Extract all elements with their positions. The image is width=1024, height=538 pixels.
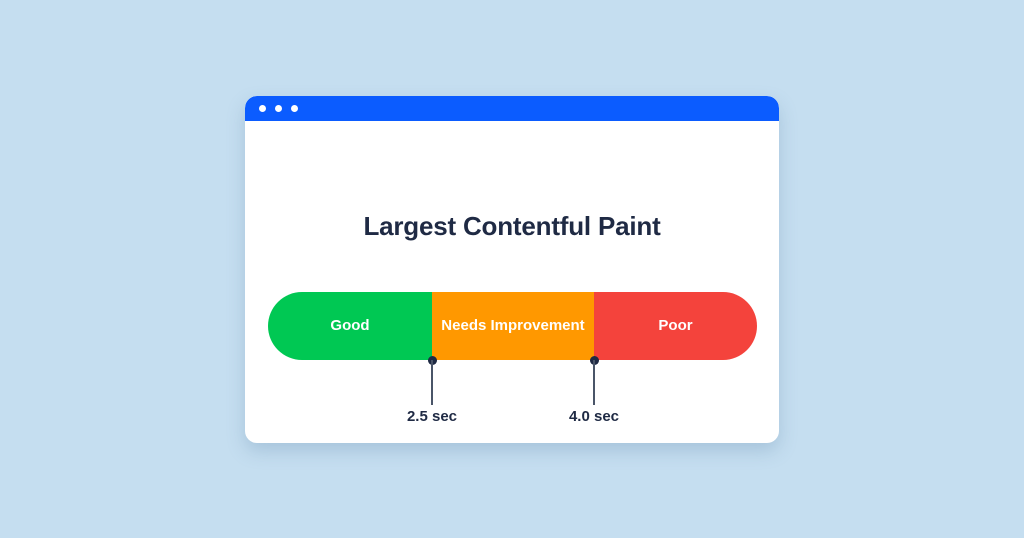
browser-window: Largest Contentful Paint Good Needs Impr…: [245, 96, 779, 443]
window-dot-maximize-icon[interactable]: [291, 105, 298, 112]
threshold-leader-line: [593, 360, 595, 405]
bar-segment-good[interactable]: Good: [268, 292, 432, 360]
window-dot-close-icon[interactable]: [259, 105, 266, 112]
bar-segment-poor[interactable]: Poor: [594, 292, 757, 360]
threshold-label-4-0-sec: 4.0 sec: [539, 408, 649, 425]
threshold-label-2-5-sec: 2.5 sec: [377, 408, 487, 425]
metric-threshold-bar: Good Needs Improvement Poor: [268, 292, 757, 360]
bar-segment-needs-improvement[interactable]: Needs Improvement: [432, 292, 594, 360]
page-title: Largest Contentful Paint: [245, 213, 779, 239]
browser-content-area: Largest Contentful Paint Good Needs Impr…: [245, 121, 779, 443]
browser-title-bar: [245, 96, 779, 121]
window-dot-minimize-icon[interactable]: [275, 105, 282, 112]
threshold-leader-line: [431, 360, 433, 405]
